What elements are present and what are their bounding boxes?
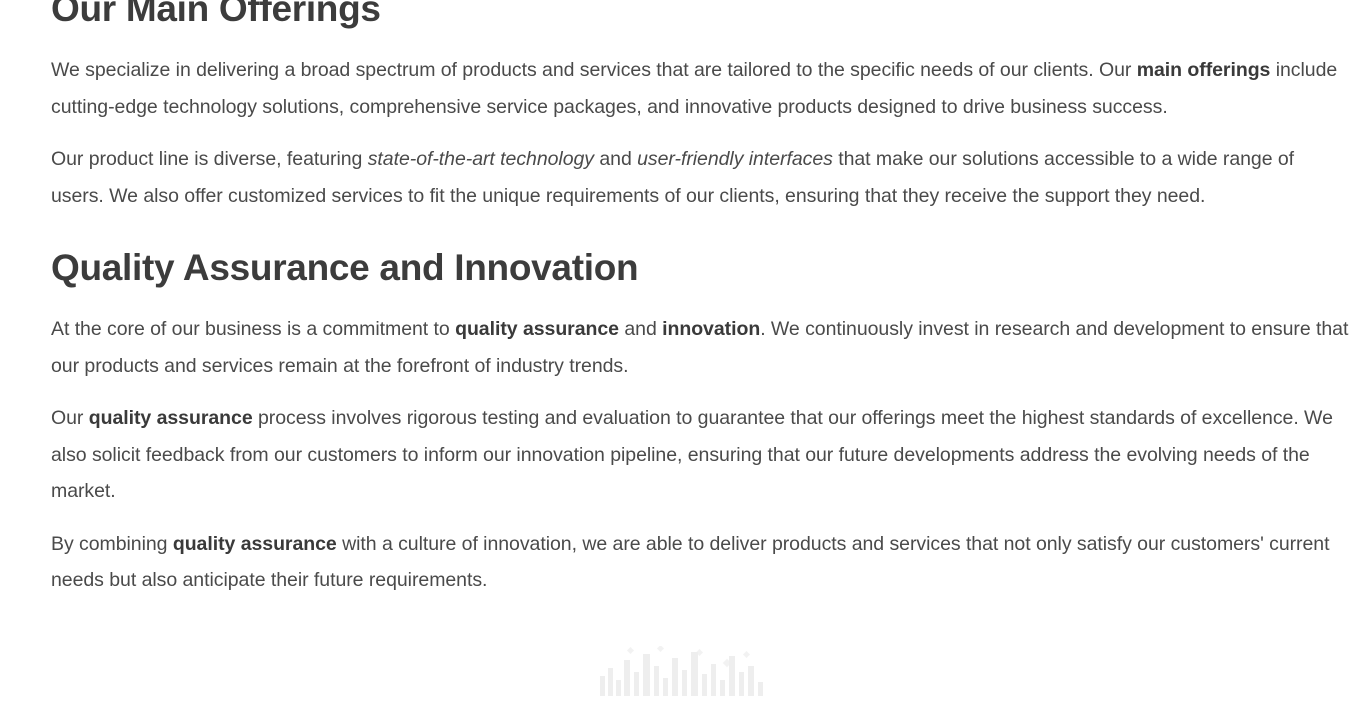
emphasis-state-of-the-art-technology: state-of-the-art technology: [368, 148, 594, 170]
watermark-graphic: [598, 646, 768, 698]
text-run: Our: [51, 407, 89, 429]
document-content: Our Main Offerings We specialize in deli…: [51, 0, 1351, 599]
emphasis-innovation: innovation: [662, 318, 760, 340]
emphasis-quality-assurance: quality assurance: [455, 318, 619, 340]
emphasis-quality-assurance: quality assurance: [89, 407, 253, 429]
document-page: Our Main Offerings We specialize in deli…: [0, 0, 1365, 704]
emphasis-main-offerings: main offerings: [1137, 59, 1271, 81]
section-heading-quality-assurance: Quality Assurance and Innovation: [51, 245, 1351, 291]
text-run: By combining: [51, 533, 173, 555]
text-run: and: [619, 318, 662, 340]
text-run: We specialize in delivering a broad spec…: [51, 59, 1137, 81]
text-run: and: [594, 148, 637, 170]
paragraph-4: Our quality assurance process involves r…: [51, 400, 1351, 510]
paragraph-2: Our product line is diverse, featuring s…: [51, 141, 1351, 214]
paragraph-3: At the core of our business is a commitm…: [51, 311, 1351, 384]
emphasis-quality-assurance: quality assurance: [173, 533, 337, 555]
text-run: Our product line is diverse, featuring: [51, 148, 368, 170]
text-run: At the core of our business is a commitm…: [51, 318, 455, 340]
emphasis-user-friendly-interfaces: user-friendly interfaces: [637, 148, 833, 170]
paragraph-1: We specialize in delivering a broad spec…: [51, 52, 1351, 125]
paragraph-5: By combining quality assurance with a cu…: [51, 526, 1351, 599]
page-title: Our Main Offerings: [51, 0, 1351, 32]
